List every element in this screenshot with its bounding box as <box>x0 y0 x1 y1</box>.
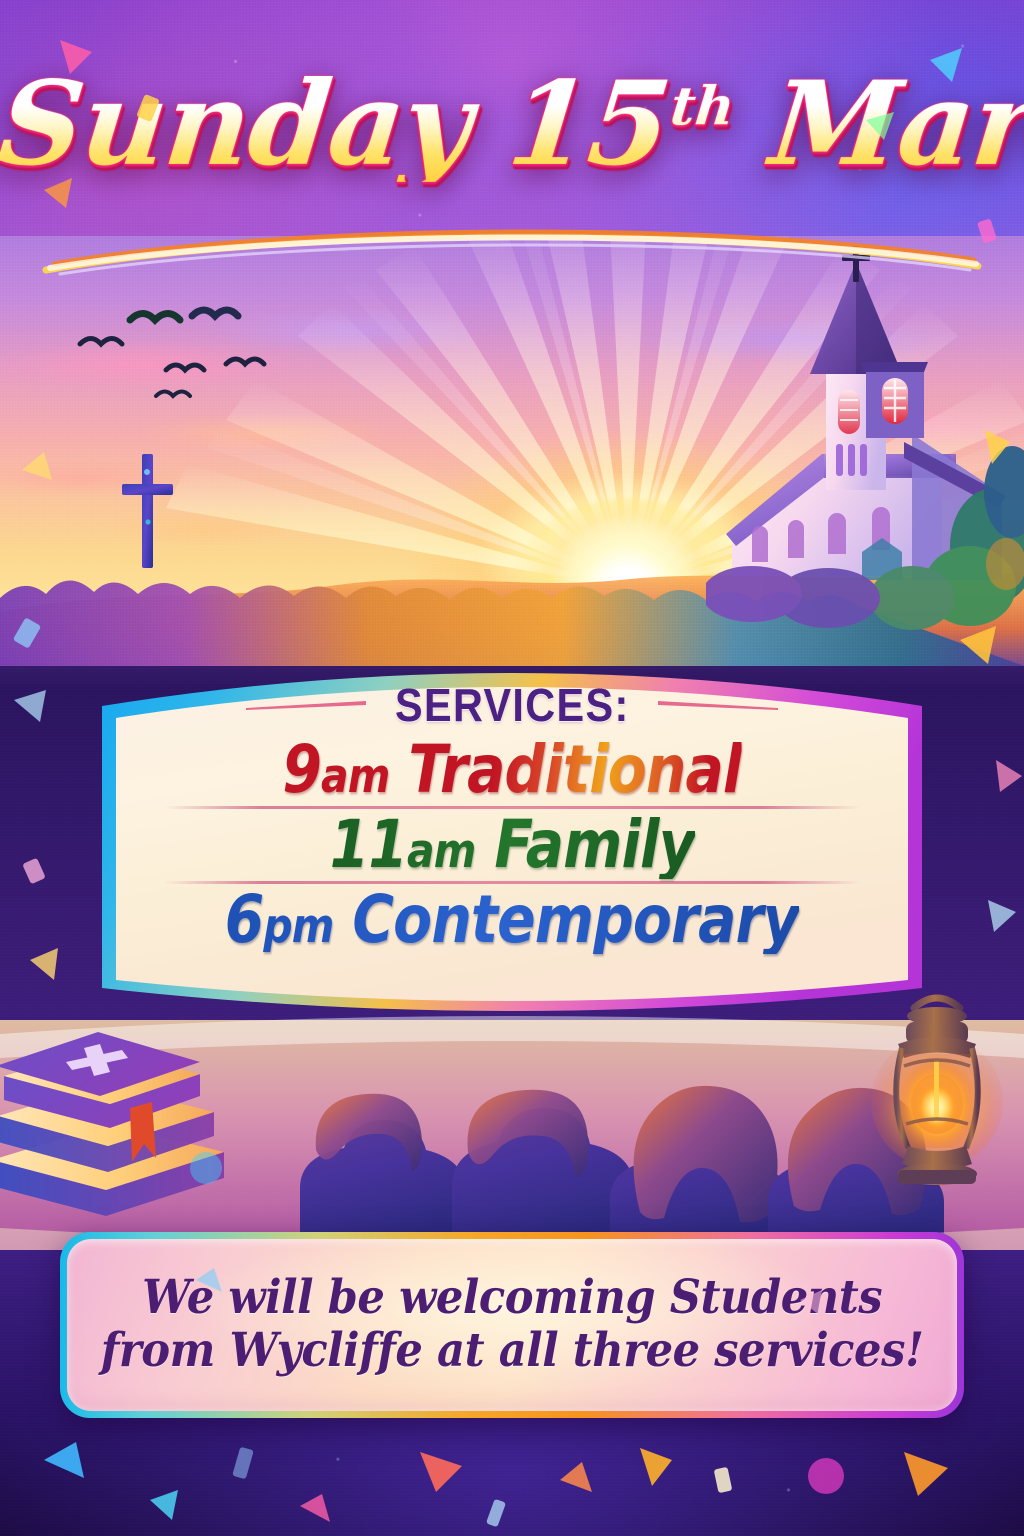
title-prefix: Sunday <box>0 56 517 192</box>
title-day: 15 <box>502 56 676 192</box>
service-line-2: 11am Family <box>329 811 694 879</box>
church-icon <box>706 246 1024 646</box>
services-heading: SERVICES: <box>395 678 630 732</box>
service-row-3[interactable]: 6pm Contemporary <box>138 886 886 954</box>
service-time-2: 11 <box>329 806 406 883</box>
announcement-inner: We will be welcoming Students from Wycli… <box>67 1239 957 1411</box>
services-panel: SERVICES: 9am Traditional 11am Family 6p… <box>92 636 932 1026</box>
service-line-1: 9am Traditional <box>282 736 741 804</box>
cross-icon <box>118 450 176 570</box>
right-dash-ornament <box>658 700 778 710</box>
service-row-2[interactable]: 11am Family <box>138 811 886 879</box>
service-time-3: 6 <box>225 881 264 958</box>
poster-canvas: Sunday 15th March <box>0 0 1024 1536</box>
stacked-books-icon <box>0 1000 238 1220</box>
title-block: Sunday 15th March <box>0 66 1024 182</box>
service-line-3: 6pm Contemporary <box>225 886 799 954</box>
service-name-3: Contemporary <box>334 881 799 958</box>
service-time-1: 9 <box>282 731 321 808</box>
service-list: 9am Traditional 11am Family 6pm Contempo… <box>138 736 886 954</box>
service-meridiem-1: am <box>321 749 389 804</box>
service-name-1: Traditional <box>390 731 742 808</box>
services-heading-row: SERVICES: <box>246 678 779 732</box>
arc-divider <box>40 216 984 276</box>
announcement-banner: We will be welcoming Students from Wycli… <box>60 1232 964 1418</box>
flying-birds-icon <box>60 300 300 410</box>
left-dash-ornament <box>246 700 366 710</box>
service-name-2: Family <box>475 806 694 883</box>
services-content: SERVICES: 9am Traditional 11am Family 6p… <box>92 636 932 1026</box>
service-row-1[interactable]: 9am Traditional <box>138 736 886 804</box>
announcement-line-1: We will be welcoming Students <box>142 1272 882 1325</box>
service-meridiem-3: pm <box>264 899 334 954</box>
title-ordinal: th <box>668 74 738 137</box>
poster-title: Sunday 15th March <box>0 66 1024 182</box>
service-meridiem-2: am <box>407 824 475 879</box>
announcement-line-2: from Wycliffe at all three services! <box>101 1325 924 1378</box>
oil-lantern-icon <box>862 982 1012 1207</box>
title-month-text: March <box>765 56 1024 192</box>
